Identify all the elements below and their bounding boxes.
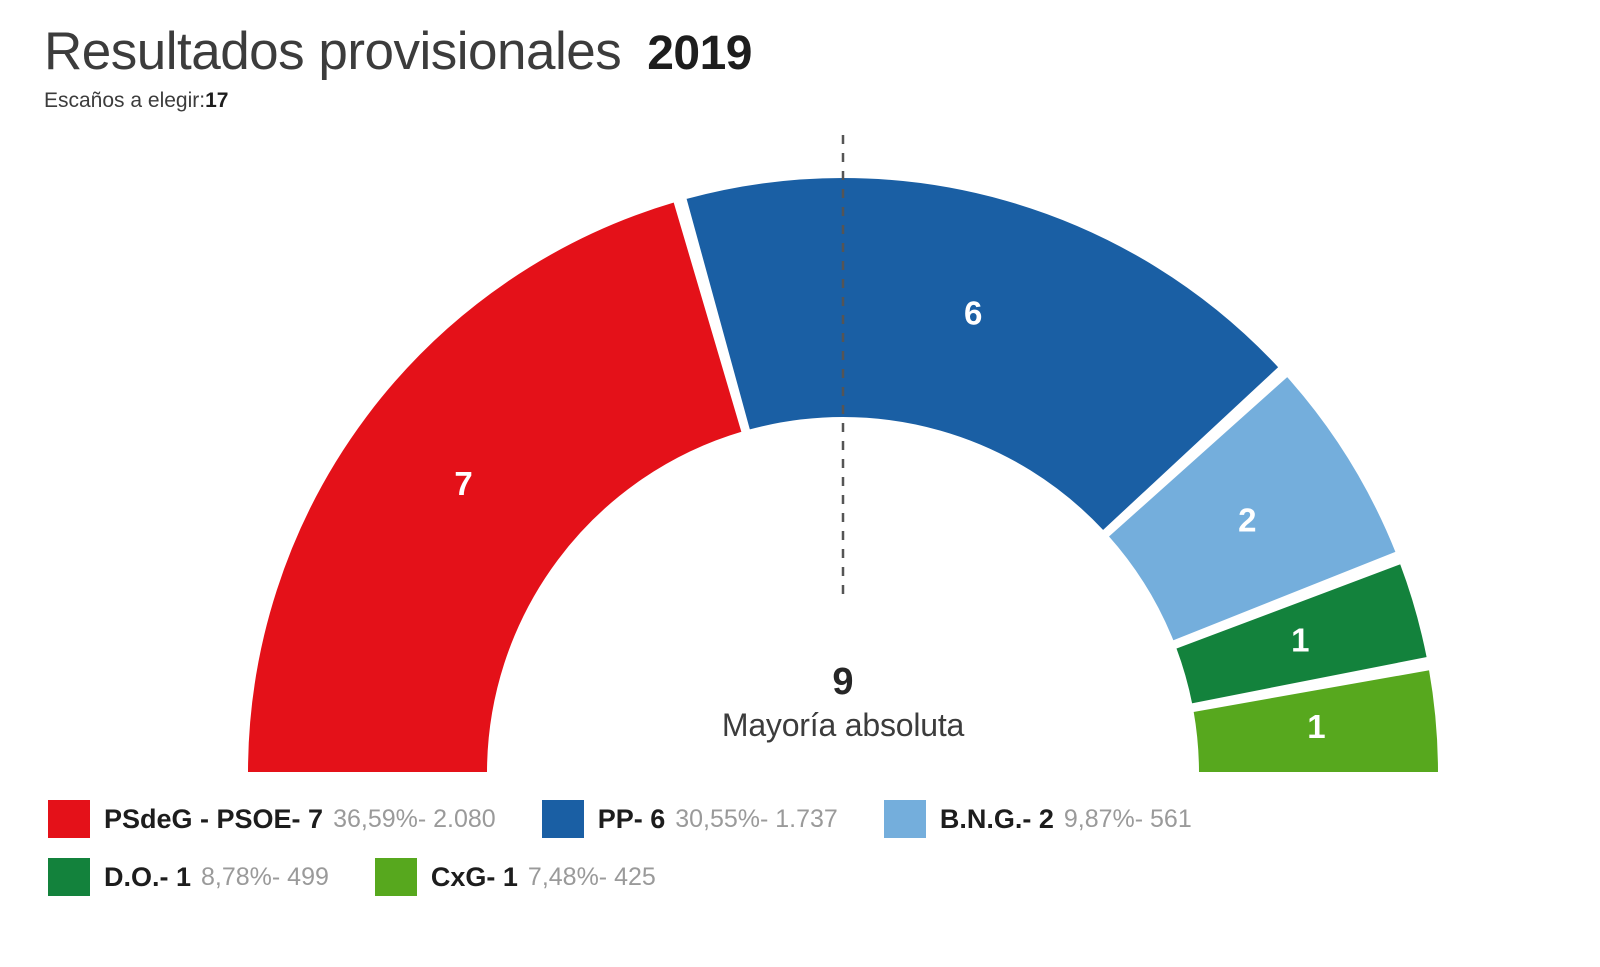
legend-swatch-pp bbox=[542, 800, 584, 838]
legend-swatch-bng bbox=[884, 800, 926, 838]
seat-count-label: 1 bbox=[1307, 708, 1325, 745]
election-results-infographic: Resultados provisionales 2019 Escaños a … bbox=[0, 0, 1600, 967]
absolute-majority-number: 9 bbox=[543, 663, 1143, 701]
legend-party-name: CxG- 1 bbox=[431, 862, 518, 893]
seat-count-label: 1 bbox=[1291, 622, 1309, 659]
legend-party-name: B.N.G.- 2 bbox=[940, 804, 1054, 835]
seat-count-label: 6 bbox=[964, 294, 982, 331]
legend-item[interactable]: B.N.G.- 29,87%- 561 bbox=[884, 800, 1192, 838]
legend-row: PSdeG - PSOE- 736,59%- 2.080PP- 630,55%-… bbox=[48, 790, 1548, 848]
legend-item[interactable]: PP- 630,55%- 1.737 bbox=[542, 800, 838, 838]
legend-item[interactable]: D.O.- 18,78%- 499 bbox=[48, 858, 329, 896]
legend-party-stats: 8,78%- 499 bbox=[201, 863, 329, 892]
legend-party-stats: 9,87%- 561 bbox=[1064, 805, 1192, 834]
legend-party-stats: 30,55%- 1.737 bbox=[675, 805, 838, 834]
seat-count-label: 7 bbox=[454, 465, 472, 502]
legend-party-stats: 36,59%- 2.080 bbox=[333, 805, 496, 834]
legend-swatch-psdeg-psoe bbox=[48, 800, 90, 838]
legend-swatch-cxg bbox=[375, 858, 417, 896]
legend: PSdeG - PSOE- 736,59%- 2.080PP- 630,55%-… bbox=[48, 790, 1548, 906]
legend-party-name: D.O.- 1 bbox=[104, 862, 191, 893]
legend-item[interactable]: CxG- 17,48%- 425 bbox=[375, 858, 656, 896]
absolute-majority-block: 9 Mayoría absoluta bbox=[543, 663, 1143, 744]
absolute-majority-caption: Mayoría absoluta bbox=[543, 707, 1143, 744]
legend-party-stats: 7,48%- 425 bbox=[528, 863, 656, 892]
legend-party-name: PP- 6 bbox=[598, 804, 666, 835]
seat-count-label: 2 bbox=[1238, 501, 1256, 538]
legend-swatch-do bbox=[48, 858, 90, 896]
legend-item[interactable]: PSdeG - PSOE- 736,59%- 2.080 bbox=[48, 800, 496, 838]
legend-row: D.O.- 18,78%- 499CxG- 17,48%- 425 bbox=[48, 848, 1548, 906]
legend-party-name: PSdeG - PSOE- 7 bbox=[104, 804, 323, 835]
